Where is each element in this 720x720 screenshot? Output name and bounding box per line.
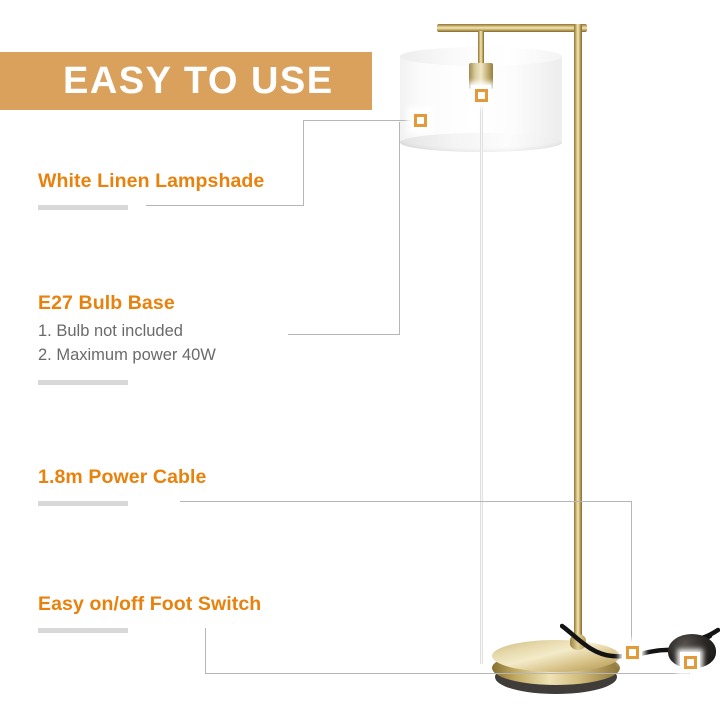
feature-block-power-cable: 1.8m Power Cable [38, 466, 207, 506]
feature-block-foot-switch: Easy on/off Foot Switch [38, 593, 261, 633]
feature-rule-lampshade [38, 205, 128, 210]
product-feature-infographic: EASY TO USE White Linen Lampshade E27 Bu… [0, 0, 720, 720]
feature-title-power-cable: 1.8m Power Cable [38, 466, 207, 488]
leader-line-lampshade-h2 [303, 120, 417, 121]
feature-block-lampshade: White Linen Lampshade [38, 170, 264, 210]
headline-text: EASY TO USE [0, 62, 334, 100]
lamp-hanging-cord [480, 99, 483, 664]
lamp-vertical-pole [574, 24, 582, 664]
marker-square-icon [475, 89, 488, 102]
leader-line-bulb-v [399, 122, 400, 335]
marker-square-icon [626, 646, 639, 659]
feature-rule-bulb-base [38, 380, 128, 385]
feature-detail-bulb-2: 2. Maximum power 40W [38, 344, 216, 367]
leader-line-bulb-h1 [288, 334, 400, 335]
bulb-base-marker[interactable] [471, 85, 491, 105]
feature-rule-power-cable [38, 501, 128, 506]
marker-square-icon [684, 656, 697, 669]
feature-block-bulb-base: E27 Bulb Base 1. Bulb not included 2. Ma… [38, 292, 216, 385]
lamp-horizontal-arm [437, 24, 587, 32]
foot-switch-marker[interactable] [680, 652, 700, 672]
feature-rule-foot-switch [38, 628, 128, 633]
leader-line-cable-v [631, 501, 632, 651]
feature-title-foot-switch: Easy on/off Foot Switch [38, 593, 261, 615]
leader-line-switch-v1 [205, 628, 206, 674]
marker-square-icon [414, 114, 427, 127]
power-cable-marker[interactable] [622, 642, 642, 662]
feature-detail-bulb-1: 1. Bulb not included [38, 320, 216, 343]
leader-line-switch-h [205, 673, 690, 674]
leader-line-cable-h [180, 501, 632, 502]
lampshade-marker[interactable] [410, 110, 430, 130]
feature-title-bulb-base: E27 Bulb Base [38, 292, 216, 314]
headline-banner: EASY TO USE [0, 52, 372, 110]
feature-title-lampshade: White Linen Lampshade [38, 170, 264, 192]
leader-line-lampshade-v [303, 120, 304, 206]
lamp-drop-stem [478, 31, 484, 65]
